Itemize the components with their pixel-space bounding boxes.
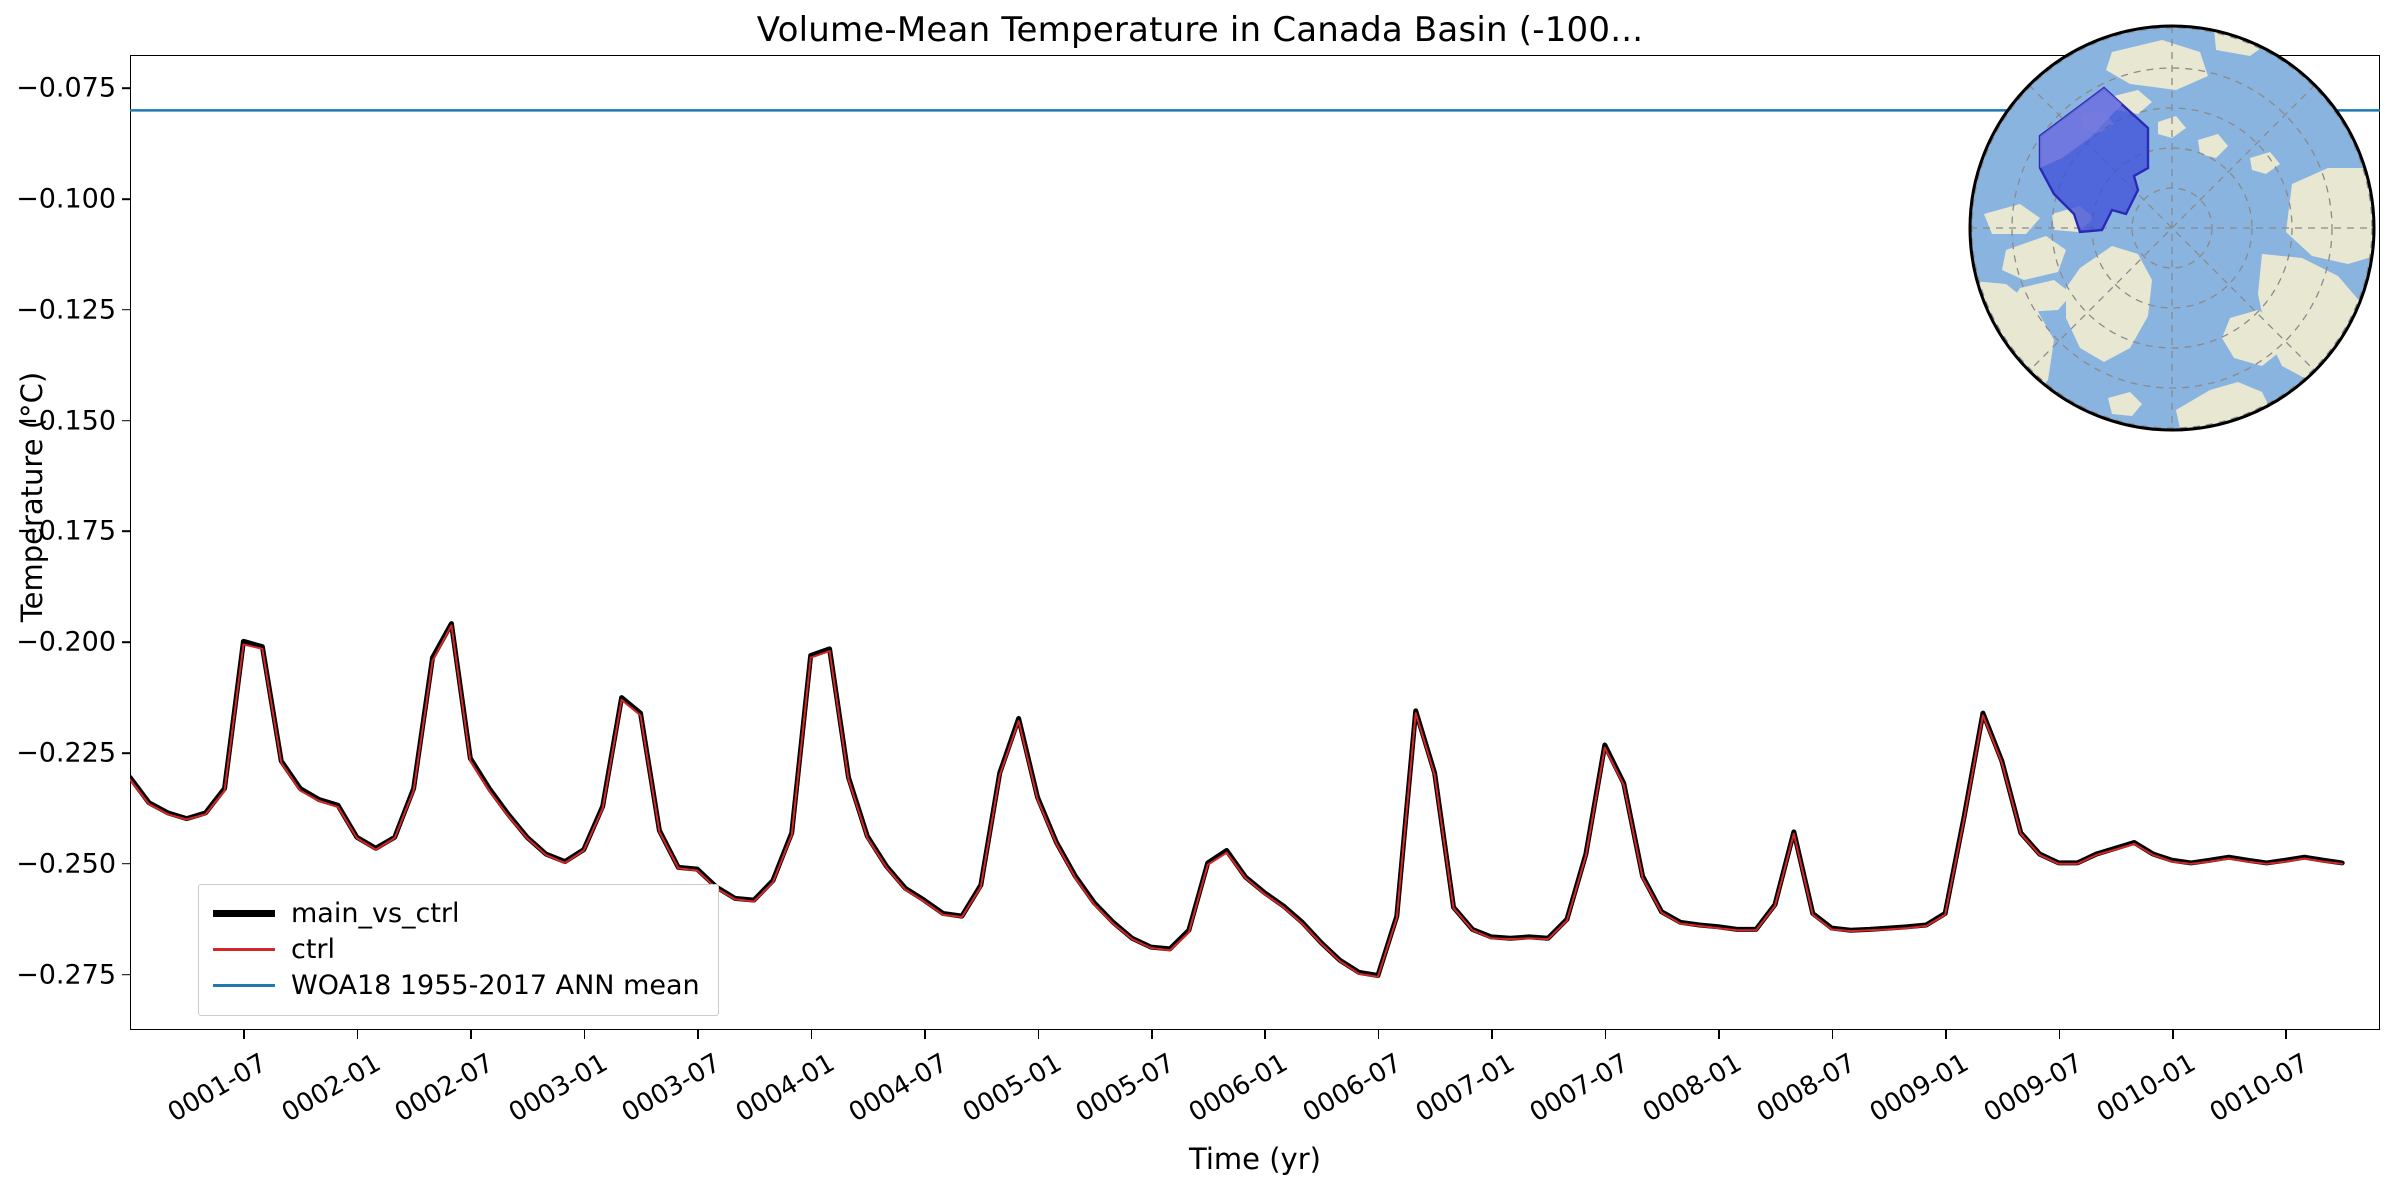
x-tick-mark bbox=[1151, 1030, 1153, 1039]
x-tick-label: 0002-07 bbox=[390, 1048, 499, 1128]
y-tick-label: −0.075 bbox=[16, 73, 116, 104]
x-tick-label: 0008-07 bbox=[1752, 1048, 1861, 1128]
x-tick-mark bbox=[2285, 1030, 2287, 1039]
x-tick-mark bbox=[811, 1030, 813, 1039]
legend-color-swatch bbox=[213, 948, 275, 951]
x-tick-mark bbox=[470, 1030, 472, 1039]
legend-item[interactable]: main_vs_ctrl bbox=[213, 895, 700, 931]
x-tick-mark bbox=[584, 1030, 586, 1039]
polar-map-svg bbox=[1962, 18, 2382, 438]
x-tick-mark bbox=[2172, 1030, 2174, 1039]
x-tick-mark bbox=[1832, 1030, 1834, 1039]
x-tick-mark bbox=[697, 1030, 699, 1039]
legend-label: main_vs_ctrl bbox=[291, 900, 460, 927]
x-tick-label: 0003-07 bbox=[617, 1048, 726, 1128]
x-tick-label: 0003-01 bbox=[504, 1048, 613, 1128]
legend-label: ctrl bbox=[291, 936, 335, 963]
x-tick-mark bbox=[243, 1030, 245, 1039]
x-tick-label: 0007-01 bbox=[1411, 1048, 1520, 1128]
x-tick-mark bbox=[1491, 1030, 1493, 1039]
x-tick-label: 0004-01 bbox=[731, 1048, 840, 1128]
x-tick-label: 0006-01 bbox=[1184, 1048, 1293, 1128]
x-tick-mark bbox=[1264, 1030, 1266, 1039]
legend[interactable]: main_vs_ctrlctrlWOA18 1955-2017 ANN mean bbox=[198, 884, 719, 1016]
legend-item[interactable]: ctrl bbox=[213, 931, 700, 967]
x-tick-label: 0004-07 bbox=[844, 1048, 953, 1128]
x-tick-mark bbox=[1718, 1030, 1720, 1039]
legend-color-swatch bbox=[213, 910, 275, 917]
x-axis-label: Time (yr) bbox=[130, 1142, 2380, 1176]
x-tick-mark bbox=[1945, 1030, 1947, 1039]
x-tick-label: 0010-01 bbox=[2092, 1048, 2201, 1128]
legend-color-swatch bbox=[213, 984, 275, 987]
x-tick-label: 0002-01 bbox=[277, 1048, 386, 1128]
x-tick-mark bbox=[1605, 1030, 1607, 1039]
x-axis-tick-labels: 0001-070002-010002-070003-010003-070004-… bbox=[130, 1030, 2380, 1150]
x-tick-mark bbox=[1378, 1030, 1380, 1039]
y-tick-label: −0.275 bbox=[16, 959, 116, 990]
x-tick-label: 0009-07 bbox=[1978, 1048, 2087, 1128]
x-tick-mark bbox=[1038, 1030, 1040, 1039]
x-tick-label: 0001-07 bbox=[163, 1048, 272, 1128]
y-tick-label: −0.250 bbox=[16, 848, 116, 879]
x-tick-label: 0005-01 bbox=[957, 1048, 1066, 1128]
x-tick-label: 0006-07 bbox=[1298, 1048, 1407, 1128]
legend-item[interactable]: WOA18 1955-2017 ANN mean bbox=[213, 967, 700, 1003]
x-tick-label: 0009-01 bbox=[1865, 1048, 1974, 1128]
x-tick-label: 0007-07 bbox=[1525, 1048, 1634, 1128]
figure-canvas: Volume-Mean Temperature in Canada Basin … bbox=[0, 0, 2400, 1200]
x-tick-label: 0008-01 bbox=[1638, 1048, 1747, 1128]
x-tick-mark bbox=[924, 1030, 926, 1039]
x-tick-label: 0010-07 bbox=[2205, 1048, 2314, 1128]
y-axis-label: Temperature (°C) bbox=[15, 147, 49, 847]
x-tick-mark bbox=[357, 1030, 359, 1039]
x-tick-mark bbox=[2059, 1030, 2061, 1039]
legend-label: WOA18 1955-2017 ANN mean bbox=[291, 972, 700, 999]
inset-map bbox=[1962, 18, 2382, 438]
x-tick-label: 0005-07 bbox=[1071, 1048, 1180, 1128]
